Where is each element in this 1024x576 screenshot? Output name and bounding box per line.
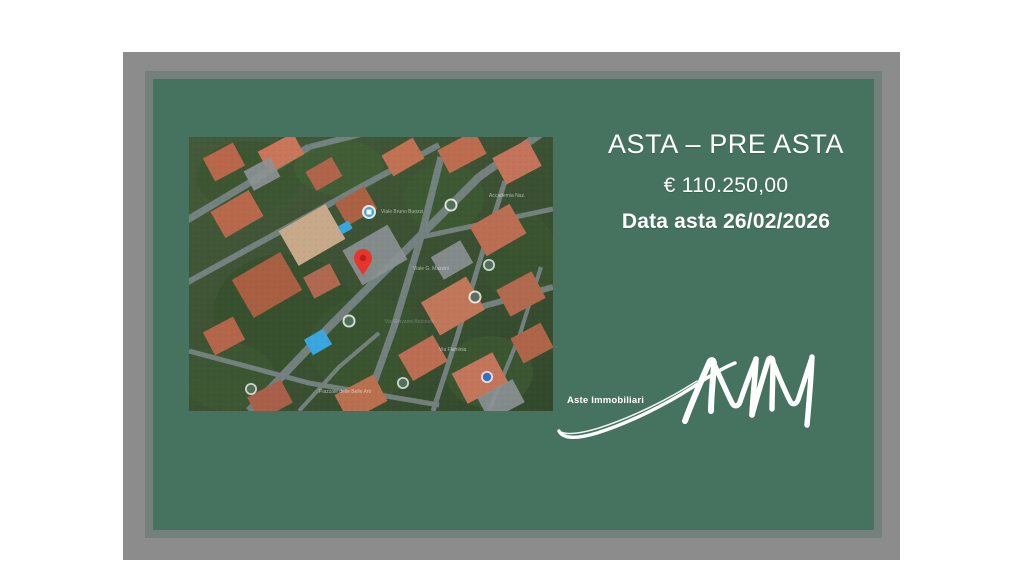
slide-frame-bevel: Viale Bruno Buozzi Viale G. Mazzini Acca… <box>145 71 882 538</box>
slide-frame-outer: Viale Bruno Buozzi Viale G. Mazzini Acca… <box>123 52 900 560</box>
mm-signature-logo: Aste Immobiliari <box>553 347 823 447</box>
svg-text:Accademia Naz.: Accademia Naz. <box>489 193 525 199</box>
logo-tagline: Aste Immobiliari <box>567 395 644 406</box>
page-title: ASTA – PRE ASTA <box>565 129 874 160</box>
brand-logo: Aste Immobiliari <box>553 347 823 447</box>
svg-text:Via Giovanni Antonelli: Via Giovanni Antonelli <box>385 319 434 325</box>
svg-text:Viale Bruno Buozzi: Viale Bruno Buozzi <box>381 209 423 215</box>
svg-text:Via Flaminia: Via Flaminia <box>439 347 467 353</box>
svg-text:Viale G. Mazzini: Viale G. Mazzini <box>413 266 449 272</box>
auction-info-block: ASTA – PRE ASTA € 110.250,00 Data asta 2… <box>565 129 874 234</box>
svg-text:Piazzale delle Belle Arti: Piazzale delle Belle Arti <box>319 389 371 395</box>
map-satellite-image: Viale Bruno Buozzi Viale G. Mazzini Acca… <box>189 137 553 411</box>
auction-date: Data asta 26/02/2026 <box>565 210 874 234</box>
slide-canvas: Viale Bruno Buozzi Viale G. Mazzini Acca… <box>153 79 874 530</box>
map-thumbnail[interactable]: Viale Bruno Buozzi Viale G. Mazzini Acca… <box>189 137 553 411</box>
auction-price: € 110.250,00 <box>565 174 874 198</box>
